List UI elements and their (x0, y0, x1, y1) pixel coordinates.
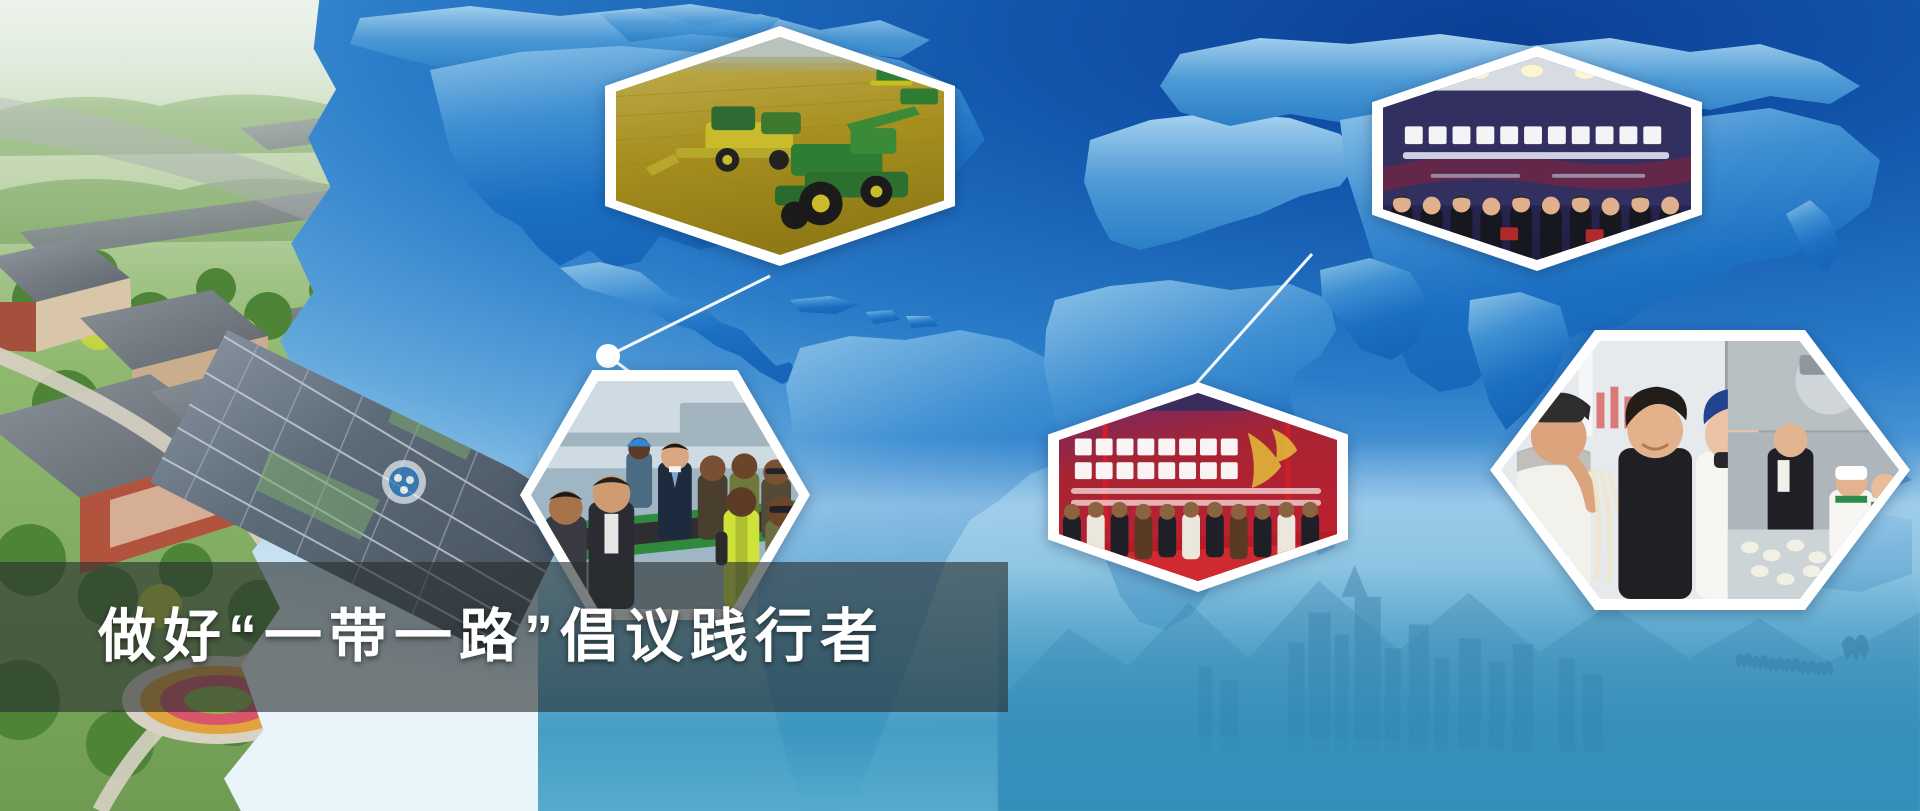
hero-banner: 做好“一带一路”倡议践行者 (0, 0, 1920, 811)
page-title: 做好“一带一路”倡议践行者 (98, 608, 885, 666)
luban-workshop-signing-hexagon[interactable] (1372, 46, 1702, 271)
grain-harvest-hexagon[interactable] (605, 26, 955, 266)
headline-overlay-band: 做好“一带一路”倡议践行者 (0, 562, 1008, 712)
node-central-america (596, 344, 620, 368)
culinary-exchange-hexagon[interactable] (1490, 330, 1910, 610)
ghana-factory-opening-hexagon[interactable] (1048, 382, 1348, 592)
